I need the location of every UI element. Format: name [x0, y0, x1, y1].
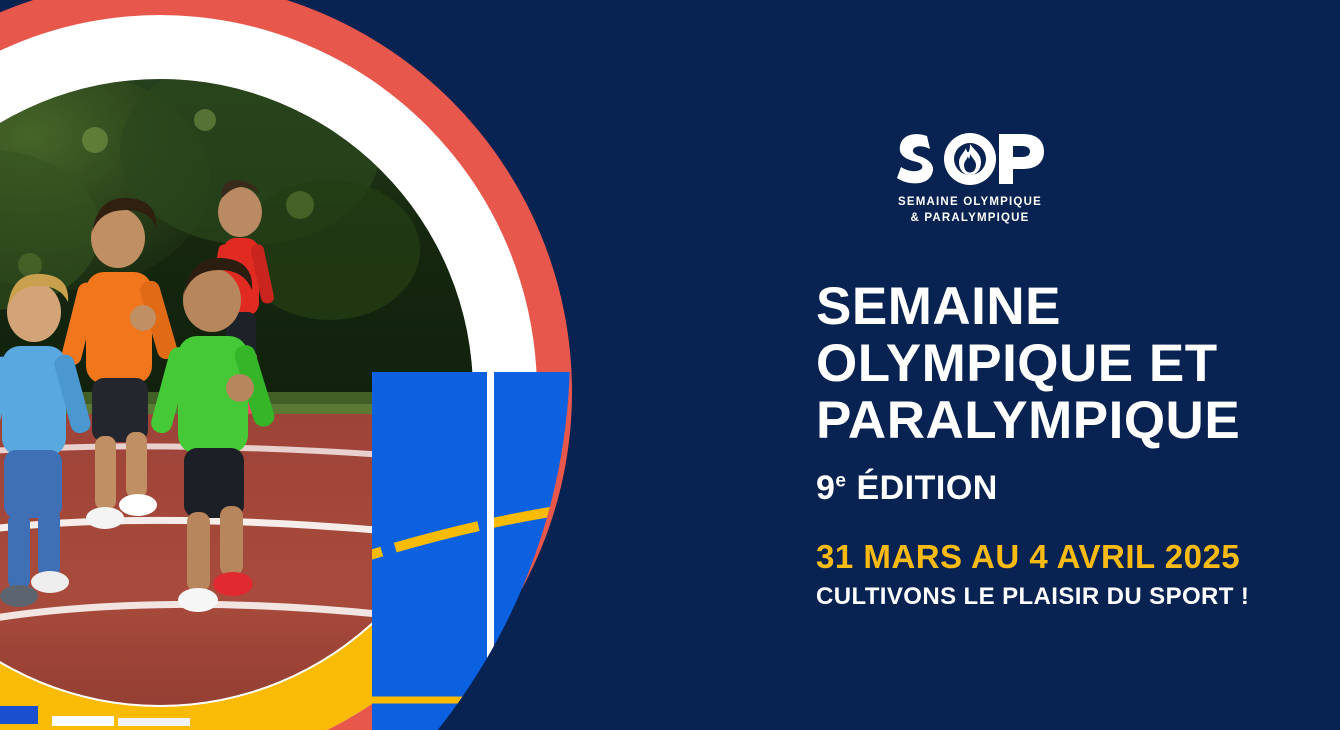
edition-ordinal: e	[835, 471, 846, 492]
sop-logo: SEMAINE OLYMPIQUE & PARALYMPIQUE	[820, 128, 1120, 226]
headline-line-1: SEMAINE	[816, 278, 1336, 335]
headline-line-3: PARALYMPIQUE	[816, 392, 1336, 449]
logo-subtitle-line2: & PARALYMPIQUE	[820, 211, 1120, 227]
content-column: SEMAINE OLYMPIQUE & PARALYMPIQUE SEMAINE…	[812, 0, 1340, 730]
sop-wordmark	[895, 128, 1045, 190]
edition-label: 9e ÉDITION	[816, 468, 998, 508]
logo-subtitle-line1: SEMAINE OLYMPIQUE	[820, 195, 1120, 211]
edition-word: ÉDITION	[856, 469, 997, 507]
sop-banner: SEMAINE OLYMPIQUE & PARALYMPIQUE SEMAINE…	[0, 0, 1340, 730]
headline: SEMAINE OLYMPIQUE ET PARALYMPIQUE	[816, 278, 1336, 449]
tagline: CULTIVONS LE PLAISIR DU SPORT !	[816, 582, 1249, 612]
event-dates: 31 MARS AU 4 AVRIL 2025	[816, 538, 1240, 576]
edition-number: 9	[816, 469, 835, 507]
headline-line-2: OLYMPIQUE ET	[816, 335, 1336, 392]
hero-graphic	[0, 0, 640, 730]
